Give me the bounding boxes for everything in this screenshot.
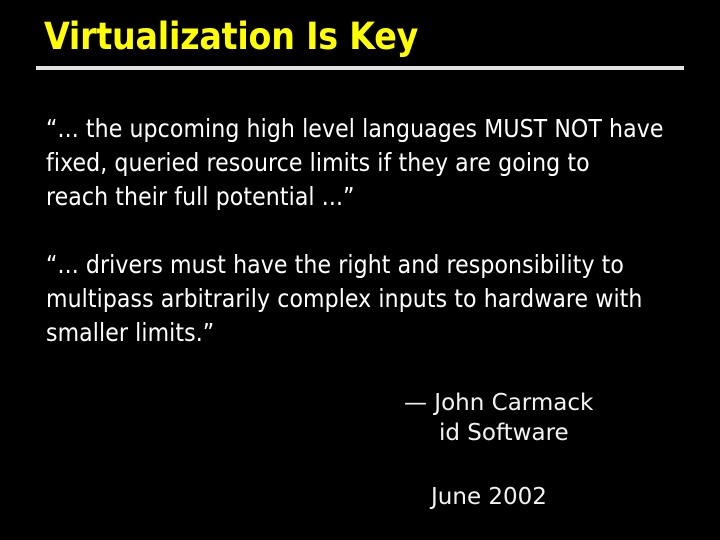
title-divider — [36, 66, 684, 70]
quote-block-1: “... the upcoming high level languages M… — [46, 112, 682, 214]
attribution-author: — John Carmack — [0, 388, 720, 418]
quote-line: reach their full potential ...” — [46, 180, 682, 214]
quote-line: “... drivers must have the right and res… — [46, 248, 682, 282]
quote-line: fixed, queried resource limits if they a… — [46, 146, 682, 180]
attribution-date: June 2002 — [0, 482, 720, 512]
quote-line: smaller limits.” — [46, 316, 682, 350]
page-title: Virtualization Is Key — [44, 16, 684, 58]
attribution-block: — John Carmack id Software June 2002 — [0, 388, 720, 512]
quote-line: multipass arbitrarily complex inputs to … — [46, 282, 682, 316]
quote-body: “... the upcoming high level languages M… — [46, 112, 682, 350]
attribution-company: id Software — [0, 418, 720, 448]
quote-line: “... the upcoming high level languages M… — [46, 112, 682, 146]
slide-canvas: Virtualization Is Key “... the upcoming … — [0, 0, 720, 540]
quote-block-2: “... drivers must have the right and res… — [46, 248, 682, 350]
